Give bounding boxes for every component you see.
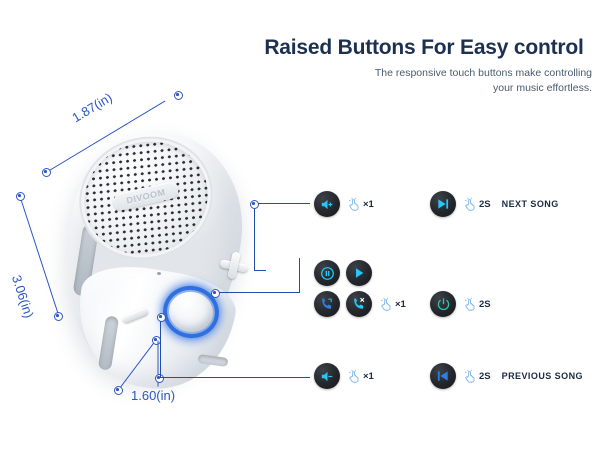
function-next-song[interactable]: 2S NEXT SONG: [430, 191, 559, 217]
leader-center-horizontal: [214, 292, 300, 293]
tap-gesture-call: ×1: [379, 297, 406, 312]
tap-gesture-power: 2S: [463, 297, 491, 312]
leader-volume-up-vertical: [254, 203, 255, 271]
dimension-endpoint-width-end: [174, 91, 183, 100]
tap-gesture-volume-up: ×1: [347, 197, 374, 212]
tap-gesture-volume-down: ×1: [347, 369, 374, 384]
next-track-icon[interactable]: [430, 191, 456, 217]
volume-up-button[interactable]: [217, 249, 250, 281]
tap-gesture-previous-song: 2S: [463, 369, 491, 384]
leader-center-vertical: [299, 258, 300, 292]
hold-time-next-song: 2S: [479, 199, 491, 210]
dimension-endpoint-width-start: [42, 168, 51, 177]
dimension-label-depth: 1.60(in): [131, 388, 175, 403]
dimension-endpoint-height-end: [54, 312, 63, 321]
function-playback[interactable]: [314, 260, 372, 286]
brand-logo: DIVOOM: [112, 180, 180, 212]
hand-tap-icon: [347, 369, 362, 384]
product-image: DIVOOM: [38, 120, 273, 405]
tap-count-volume-down: ×1: [363, 371, 374, 382]
hand-tap-icon: [463, 197, 478, 212]
function-volume-up[interactable]: ×1: [314, 191, 374, 217]
function-volume-down[interactable]: ×1: [314, 363, 374, 389]
label-next-song: NEXT SONG: [502, 199, 559, 209]
play-icon[interactable]: [346, 260, 372, 286]
page-title: Raised Buttons For Easy control: [256, 36, 592, 60]
infographic-canvas: Raised Buttons For Easy control The resp…: [0, 0, 600, 450]
hand-tap-icon: [463, 297, 478, 312]
subtitle-line-1: The responsive touch buttons make contro…: [375, 67, 592, 79]
hold-time-power: 2S: [479, 299, 491, 310]
leader-volume-up-horizontal: [254, 203, 310, 204]
leader-anchor-volume-up: [250, 200, 259, 209]
function-call[interactable]: ×1: [314, 291, 406, 317]
tap-count-volume-up: ×1: [363, 199, 374, 210]
hold-time-previous-song: 2S: [479, 371, 491, 382]
reject-call-icon[interactable]: [346, 291, 372, 317]
tap-count-call: ×1: [395, 299, 406, 310]
hand-tap-icon: [463, 369, 478, 384]
function-power[interactable]: 2S: [430, 291, 491, 317]
call-icon-pair: [314, 291, 372, 317]
function-previous-song[interactable]: 2S PREVIOUS SONG: [430, 363, 583, 389]
subtitle-line-2: your music effortless.: [493, 82, 592, 94]
dimension-label-height: 3.06(in): [9, 273, 37, 320]
volume-down-icon[interactable]: [314, 363, 340, 389]
dimension-endpoint-height-start: [16, 192, 25, 201]
hand-tap-icon: [347, 197, 362, 212]
dimension-endpoint-depth-start: [114, 386, 123, 395]
leader-anchor-center: [211, 289, 220, 298]
page-subtitle: The responsive touch buttons make contro…: [292, 66, 592, 96]
tap-gesture-next-song: 2S: [463, 197, 491, 212]
answer-call-icon[interactable]: [314, 291, 340, 317]
label-previous-song: PREVIOUS SONG: [502, 371, 583, 381]
leader-anchor-volume-down: [157, 313, 166, 322]
leader-volume-down-horizontal: [160, 377, 310, 378]
power-icon[interactable]: [430, 291, 456, 317]
leader-volume-down-vertical: [160, 316, 161, 378]
volume-up-icon[interactable]: [314, 191, 340, 217]
hand-tap-icon: [379, 297, 394, 312]
previous-track-icon[interactable]: [430, 363, 456, 389]
pause-icon[interactable]: [314, 260, 340, 286]
leader-volume-up-stub: [254, 270, 266, 271]
